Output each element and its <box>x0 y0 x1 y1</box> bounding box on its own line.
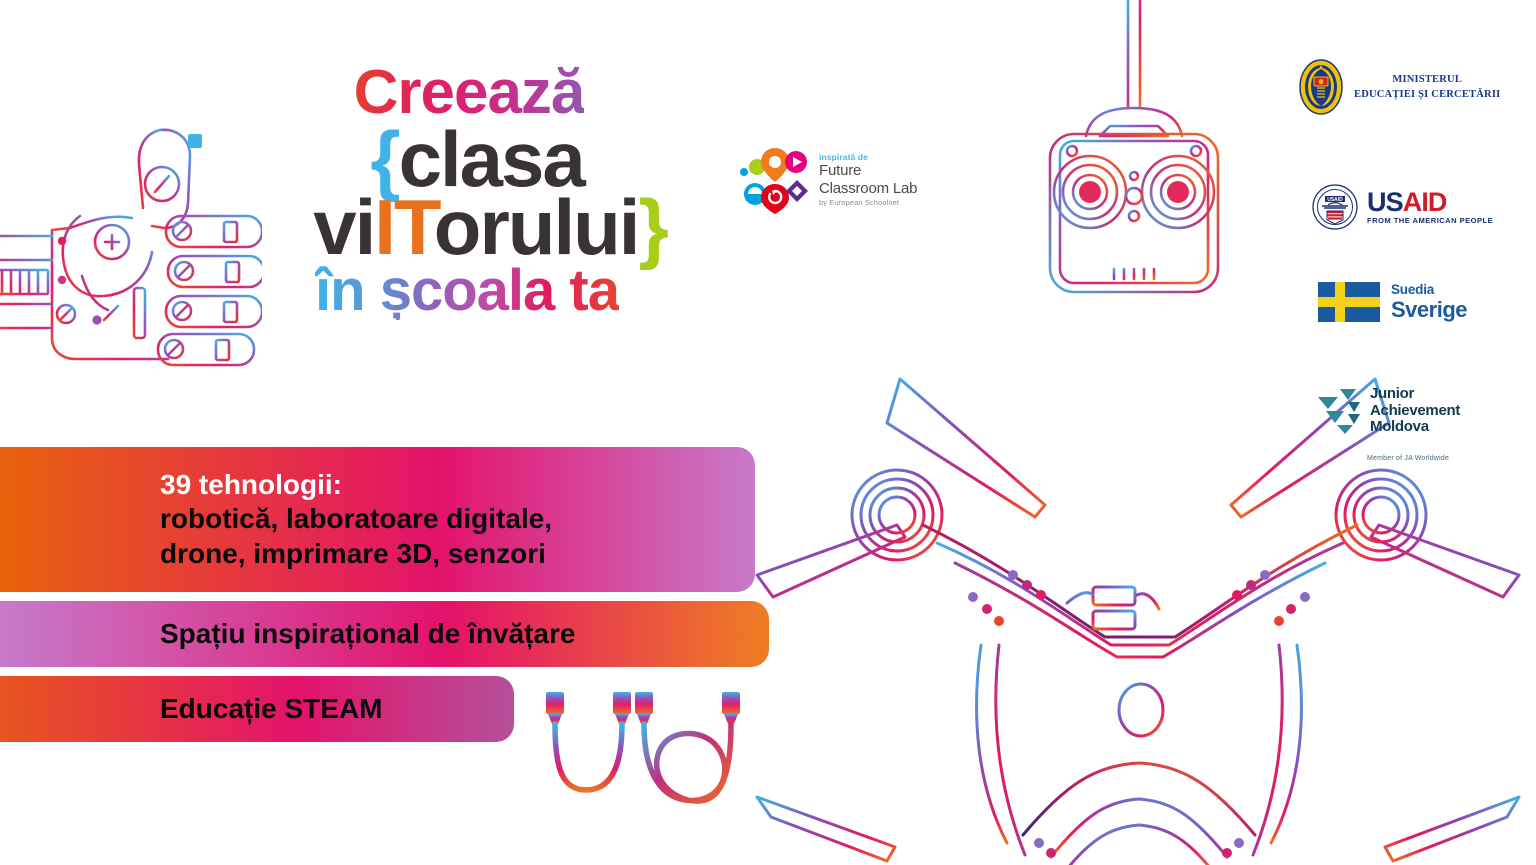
ministry-line1: MINISTERUL <box>1354 72 1500 87</box>
fcl-name-line1: Future <box>819 162 917 180</box>
ja-line2: Achievement <box>1370 403 1460 420</box>
fcl-text-block: inspirată de Future Classroom Lab by Eur… <box>819 152 917 207</box>
ministry-line2: EDUCAȚIEI ȘI CERCETĂRII <box>1354 87 1500 102</box>
fcl-inspired-label: inspirată de <box>819 152 917 162</box>
sweden-flag-icon <box>1318 282 1380 322</box>
headline-in-scoala-ta: în școala ta <box>315 262 619 320</box>
sweden-line1: Suedia <box>1391 283 1467 297</box>
drone-remote-controller-icon <box>1028 0 1278 316</box>
partner-logo-usaid: USAID USAID FROM THE AMERICAN PEOPLE <box>1312 184 1493 230</box>
feature-bar-inspirational-space: Spațiu inspirațional de învățare <box>0 601 769 667</box>
steam-education-label: Educație STEAM <box>0 693 382 725</box>
technologies-line2: robotică, laboratoare digitale, <box>160 502 552 536</box>
inspirational-space-label: Spațiu inspirațional de învățare <box>0 618 575 650</box>
ethernet-cables-icon <box>528 672 758 865</box>
sweden-line2: Sverige <box>1391 298 1467 321</box>
future-classroom-lab-logo: inspirată de Future Classroom Lab by Eur… <box>738 146 917 214</box>
partner-logo-junior-achievement: Junior Achievement Moldova Member of JA … <box>1318 386 1460 462</box>
technologies-heading: 39 tehnologii: <box>160 468 552 502</box>
ja-row: Junior Achievement Moldova <box>1318 386 1460 436</box>
promotional-banner: Creează {clasa viITorului} în școala ta … <box>0 0 1536 865</box>
ja-line3: Moldova <box>1370 419 1460 436</box>
feature-bar-technologies: 39 tehnologii: robotică, laboratoare dig… <box>0 447 755 592</box>
partner-logo-ministry: MINISTERUL EDUCAȚIEI ȘI CERCETĂRII <box>1298 58 1500 116</box>
feature-bar-steam-education: Educație STEAM <box>0 676 514 742</box>
usaid-tagline: FROM THE AMERICAN PEOPLE <box>1367 217 1493 225</box>
brace-close: } <box>638 183 666 271</box>
usaid-aid: AID <box>1403 187 1447 217</box>
junior-achievement-triangles-icon <box>1318 388 1360 434</box>
feature-bar-technologies-text: 39 tehnologii: robotică, laboratoare dig… <box>0 468 552 570</box>
ja-line1: Junior <box>1370 386 1460 403</box>
ja-wordmark: Junior Achievement Moldova <box>1370 386 1460 436</box>
technologies-line3: drone, imprimare 3D, senzori <box>160 537 552 571</box>
usaid-us: US <box>1367 187 1403 217</box>
svg-text:USAID: USAID <box>1327 197 1343 203</box>
fcl-name-line2: Classroom Lab <box>819 180 917 198</box>
sweden-wordmark: Suedia Sverige <box>1391 283 1467 321</box>
moldova-coat-of-arms-icon <box>1298 58 1344 116</box>
usaid-seal-icon: USAID <box>1312 184 1358 230</box>
fcl-by-label: by European Schoolnet <box>819 199 917 208</box>
usaid-word-row: USAID <box>1367 189 1493 216</box>
usaid-wordmark: USAID FROM THE AMERICAN PEOPLE <box>1367 189 1493 225</box>
fcl-dots-icon <box>738 146 810 214</box>
partner-logo-sweden: Suedia Sverige <box>1318 282 1467 322</box>
ministry-name: MINISTERUL EDUCAȚIEI ȘI CERCETĂRII <box>1354 72 1500 102</box>
ja-member-label: Member of JA Worldwide <box>1367 455 1449 462</box>
